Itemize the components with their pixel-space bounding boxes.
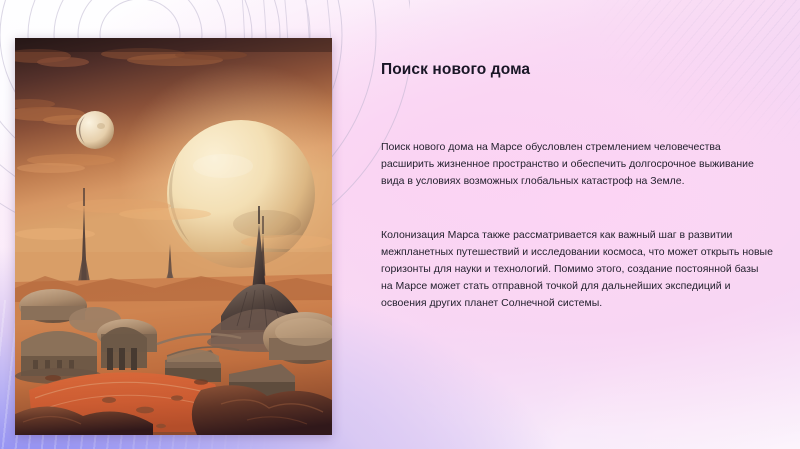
presentation-slide: Поиск нового дома Поиск нового дома на М… — [0, 0, 800, 449]
body-paragraph-2: Колонизация Марса также рассматривается … — [381, 227, 773, 312]
text-column: Поиск нового дома Поиск нового дома на М… — [381, 60, 773, 312]
page-title: Поиск нового дома — [381, 60, 773, 79]
mars-colony-illustration — [15, 38, 332, 435]
body-paragraph-1: Поиск нового дома на Марсе обусловлен ст… — [381, 139, 773, 190]
